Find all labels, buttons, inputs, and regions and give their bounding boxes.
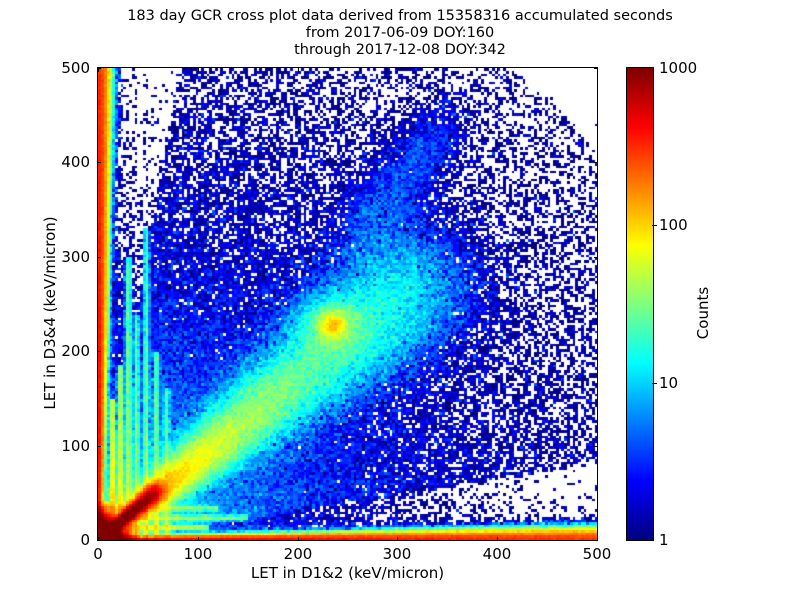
y-tick-mark xyxy=(97,257,101,258)
y-tick-label: 400 xyxy=(30,153,90,171)
x-axis-label: LET in D1&2 (keV/micron) xyxy=(97,564,598,582)
y-tick-label: 100 xyxy=(30,437,90,455)
plot-title-line-2: from 2017-06-09 DOY:160 xyxy=(0,25,800,42)
x-tick-mark xyxy=(198,537,199,541)
x-tick-mark-top xyxy=(198,68,199,72)
colorbar-tick-label: 100 xyxy=(659,216,688,234)
plot-title: 183 day GCR cross plot data derived from… xyxy=(0,8,800,59)
x-tick-label: 300 xyxy=(357,545,437,563)
y-tick-mark xyxy=(97,351,101,352)
colorbar-tick-mark xyxy=(652,383,657,384)
scatter-density-plot xyxy=(98,68,597,540)
y-tick-mark-right xyxy=(594,446,598,447)
colorbar-tick-label: 1 xyxy=(659,531,669,549)
colorbar-gradient xyxy=(627,68,653,540)
x-tick-label: 400 xyxy=(457,545,537,563)
y-tick-mark-right xyxy=(594,162,598,163)
y-tick-mark xyxy=(97,162,101,163)
colorbar-tick-mark xyxy=(652,225,657,226)
x-tick-label: 100 xyxy=(158,545,238,563)
y-tick-mark-right xyxy=(594,351,598,352)
x-tick-mark xyxy=(497,537,498,541)
y-tick-label: 500 xyxy=(30,59,90,77)
x-tick-mark-top xyxy=(298,68,299,72)
y-tick-label: 300 xyxy=(30,248,90,266)
y-tick-mark-right xyxy=(594,257,598,258)
x-tick-mark-top xyxy=(397,68,398,72)
y-axis-label: LET in D3&4 (keV/micron) xyxy=(41,163,59,463)
plot-axes-frame xyxy=(97,67,598,541)
colorbar-tick-label: 10 xyxy=(659,374,678,392)
x-tick-label: 200 xyxy=(258,545,338,563)
x-tick-label: 0 xyxy=(58,545,138,563)
x-tick-mark xyxy=(397,537,398,541)
plot-title-line-3: through 2017-12-08 DOY:342 xyxy=(0,42,800,59)
x-tick-mark xyxy=(298,537,299,541)
x-tick-mark-top xyxy=(597,68,598,72)
figure-canvas: 183 day GCR cross plot data derived from… xyxy=(0,0,800,600)
y-tick-mark xyxy=(97,446,101,447)
colorbar-tick-label: 1000 xyxy=(659,59,697,77)
x-tick-mark xyxy=(98,537,99,541)
plot-title-line-1: 183 day GCR cross plot data derived from… xyxy=(0,8,800,25)
x-tick-label: 500 xyxy=(557,545,637,563)
colorbar-label: Counts xyxy=(694,213,712,413)
x-tick-mark-top xyxy=(497,68,498,72)
x-tick-mark xyxy=(597,537,598,541)
y-tick-label: 200 xyxy=(30,342,90,360)
colorbar xyxy=(626,67,654,541)
x-tick-mark-top xyxy=(98,68,99,72)
